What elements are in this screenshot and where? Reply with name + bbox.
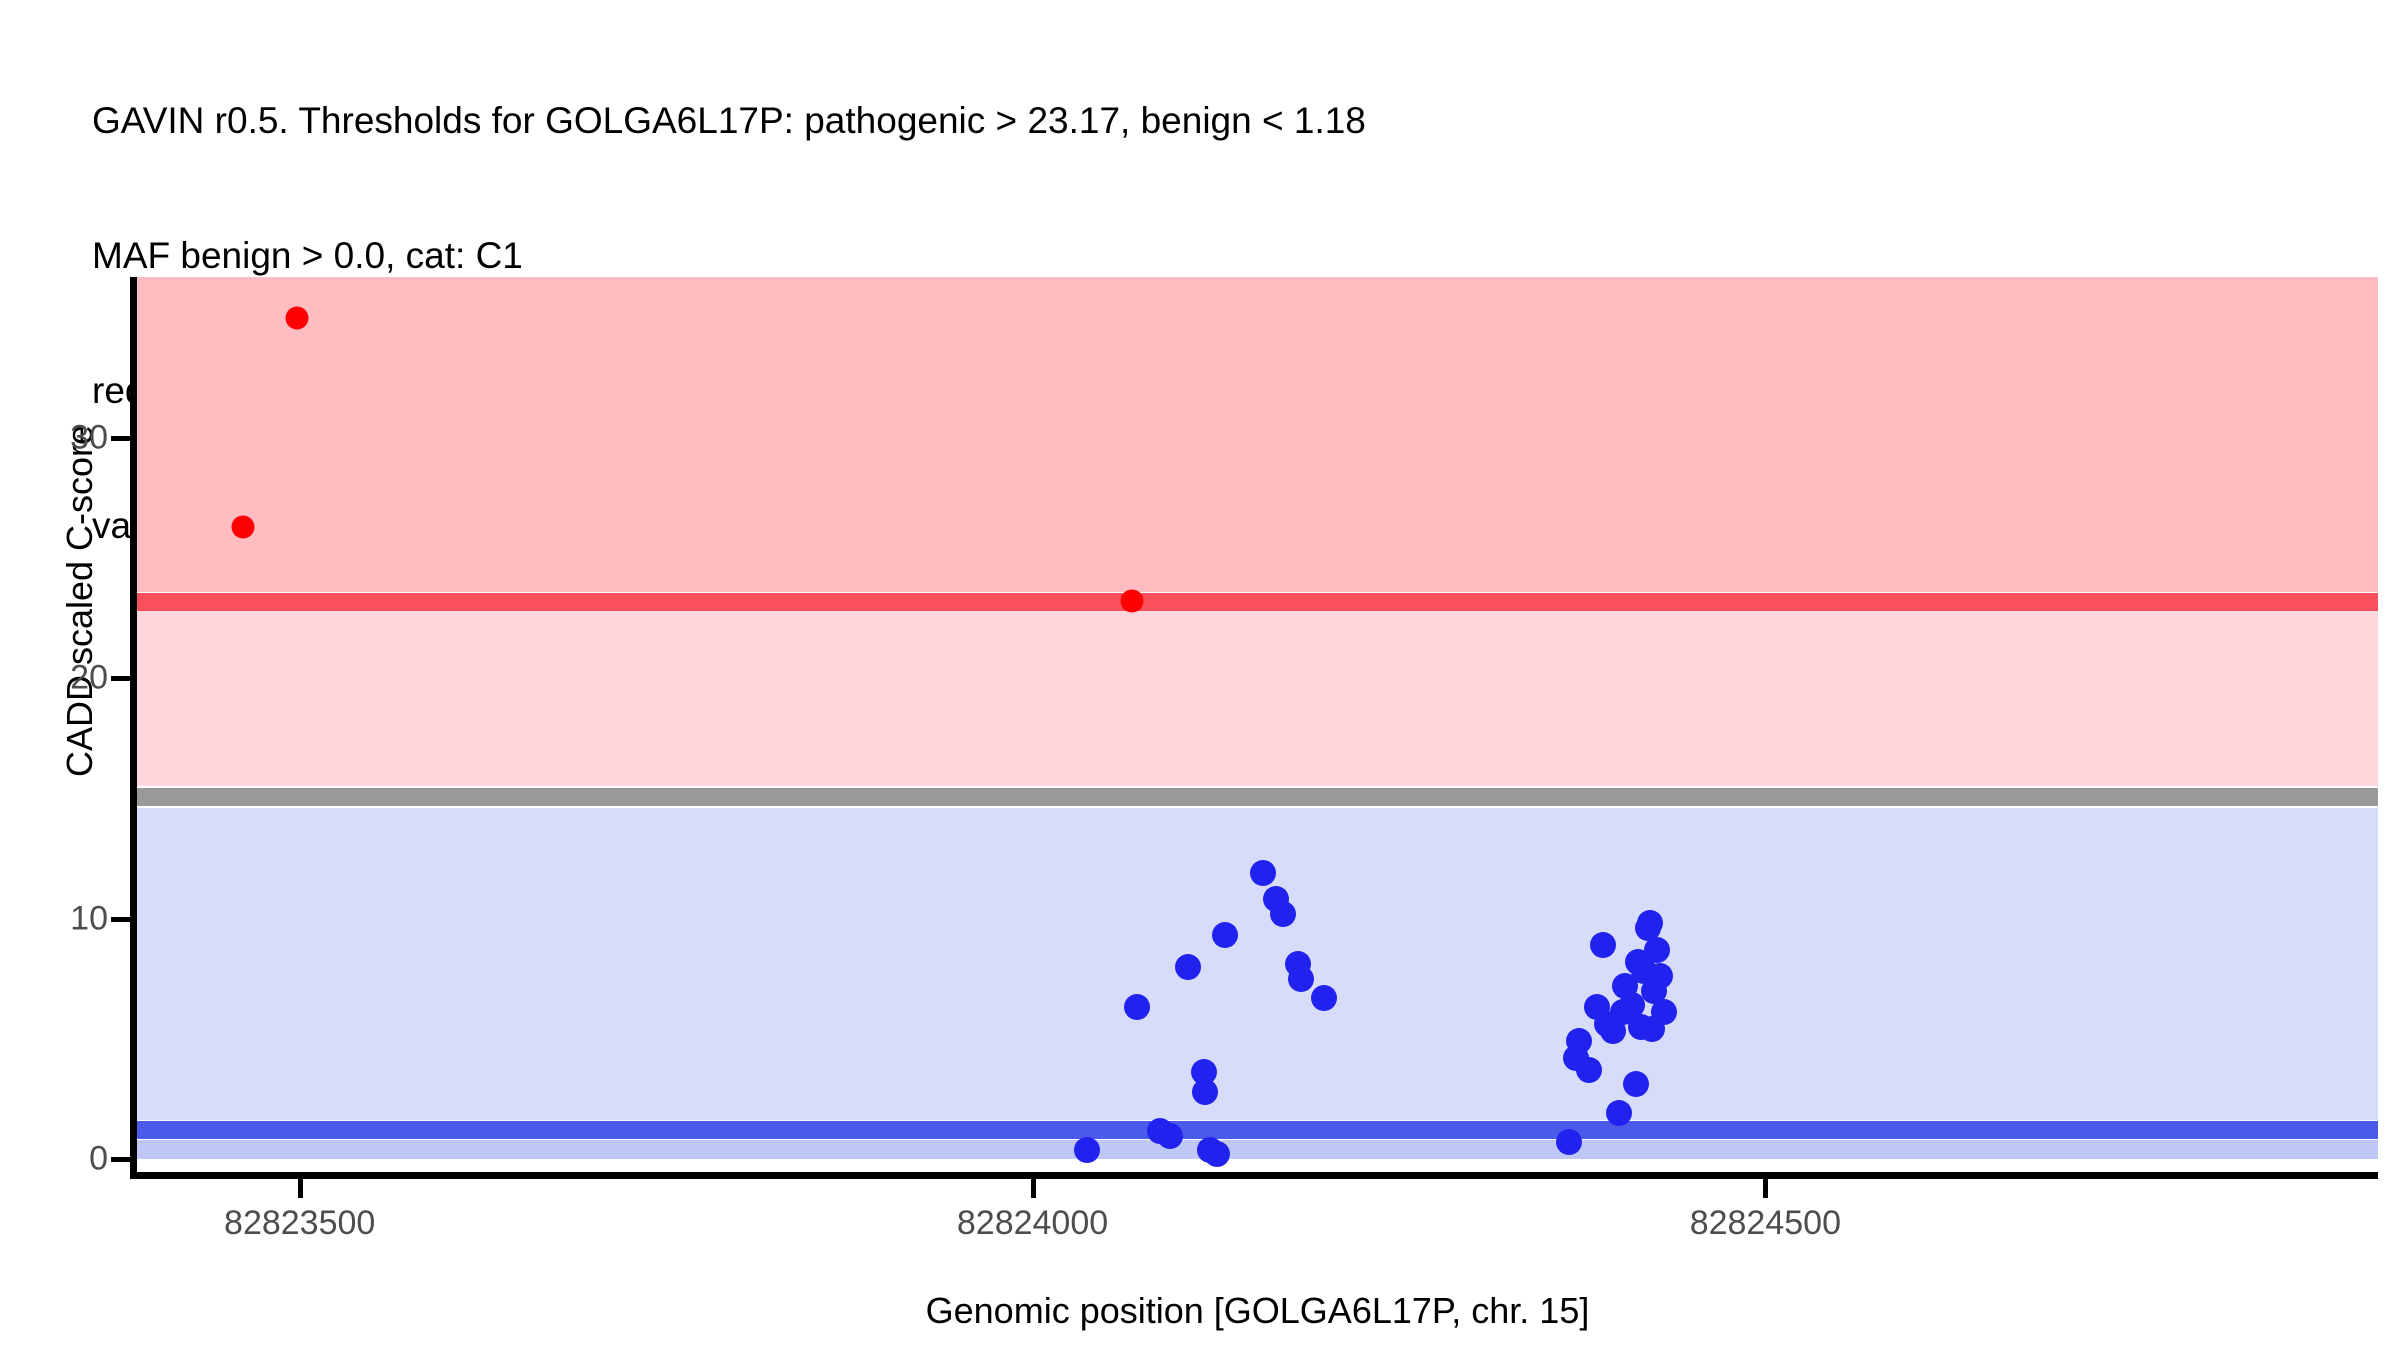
threshold-band-pathogenic-upper [137,277,2378,592]
pathogenic-variant-point[interactable] [231,515,254,538]
plot-panel [137,277,2378,1172]
x-tick-mark [298,1179,303,1198]
threshold-band-pathogenic-lower [137,611,2378,786]
gnomad-variant-point[interactable] [1175,954,1201,980]
gnomad-variant-point[interactable] [1651,999,1677,1025]
gnomad-variant-point[interactable] [1192,1079,1218,1105]
threshold-line-pathogenic [137,593,2378,611]
y-tick-mark [111,436,130,441]
gnomad-variant-point[interactable] [1623,1071,1649,1097]
x-tick-label: 82824500 [1565,1204,1965,1243]
x-tick-label: 82824000 [833,1204,1233,1243]
gnomad-variant-point[interactable] [1204,1141,1230,1167]
gnomad-variant-point[interactable] [1270,901,1296,927]
gnomad-variant-point[interactable] [1647,963,1673,989]
y-tick-mark [111,1157,130,1162]
gnomad-variant-point[interactable] [1157,1123,1183,1149]
pathogenic-variant-point[interactable] [1121,590,1144,613]
x-axis-line [130,1172,2378,1179]
y-tick-mark [111,676,130,681]
x-tick-mark [1031,1179,1036,1198]
gnomad-variant-point[interactable] [1074,1137,1100,1163]
gnomad-variant-point[interactable] [1566,1028,1592,1054]
y-tick-label: 20 [0,659,108,698]
y-axis-line [130,277,137,1173]
plot-title-line-1: GAVIN r0.5. Thresholds for GOLGA6L17P: p… [92,98,2372,143]
gnomad-variant-point[interactable] [1606,1100,1632,1126]
gnomad-variant-point[interactable] [1250,860,1276,886]
gnomad-variant-point[interactable] [1288,966,1314,992]
gnomad-variant-point[interactable] [1311,985,1337,1011]
threshold-band-benign-upper [137,808,2378,1120]
x-axis-title: Genomic position [GOLGA6L17P, chr. 15] [137,1290,2378,1332]
x-tick-label: 82823500 [100,1204,500,1243]
gnomad-variant-point[interactable] [1212,922,1238,948]
y-axis-title: CADD scaled C-score [59,221,101,981]
gnomad-variant-point[interactable] [1590,932,1616,958]
threshold-band-benign-lower [137,1140,2378,1159]
gnomad-variant-point[interactable] [1576,1057,1602,1083]
plot-title-line-2: MAF benign > 0.0, cat: C1 [92,233,2372,278]
x-tick-mark [1763,1179,1768,1198]
y-tick-label: 0 [0,1139,108,1178]
gnomad-variant-point[interactable] [1556,1129,1582,1155]
threshold-line-benign [137,1121,2378,1139]
gnomad-variant-point[interactable] [1644,937,1670,963]
gnomad-variant-point[interactable] [1124,994,1150,1020]
gavin-cadd-scatter-figure: GAVIN r0.5. Thresholds for GOLGA6L17P: p… [0,0,2400,1350]
gnomad-variant-point[interactable] [1637,910,1663,936]
y-tick-label: 10 [0,899,108,938]
y-tick-label: 30 [0,418,108,457]
pathogenic-variant-point[interactable] [285,306,308,329]
threshold-line-genome-wide-fallback [137,788,2378,806]
y-tick-mark [111,917,130,922]
